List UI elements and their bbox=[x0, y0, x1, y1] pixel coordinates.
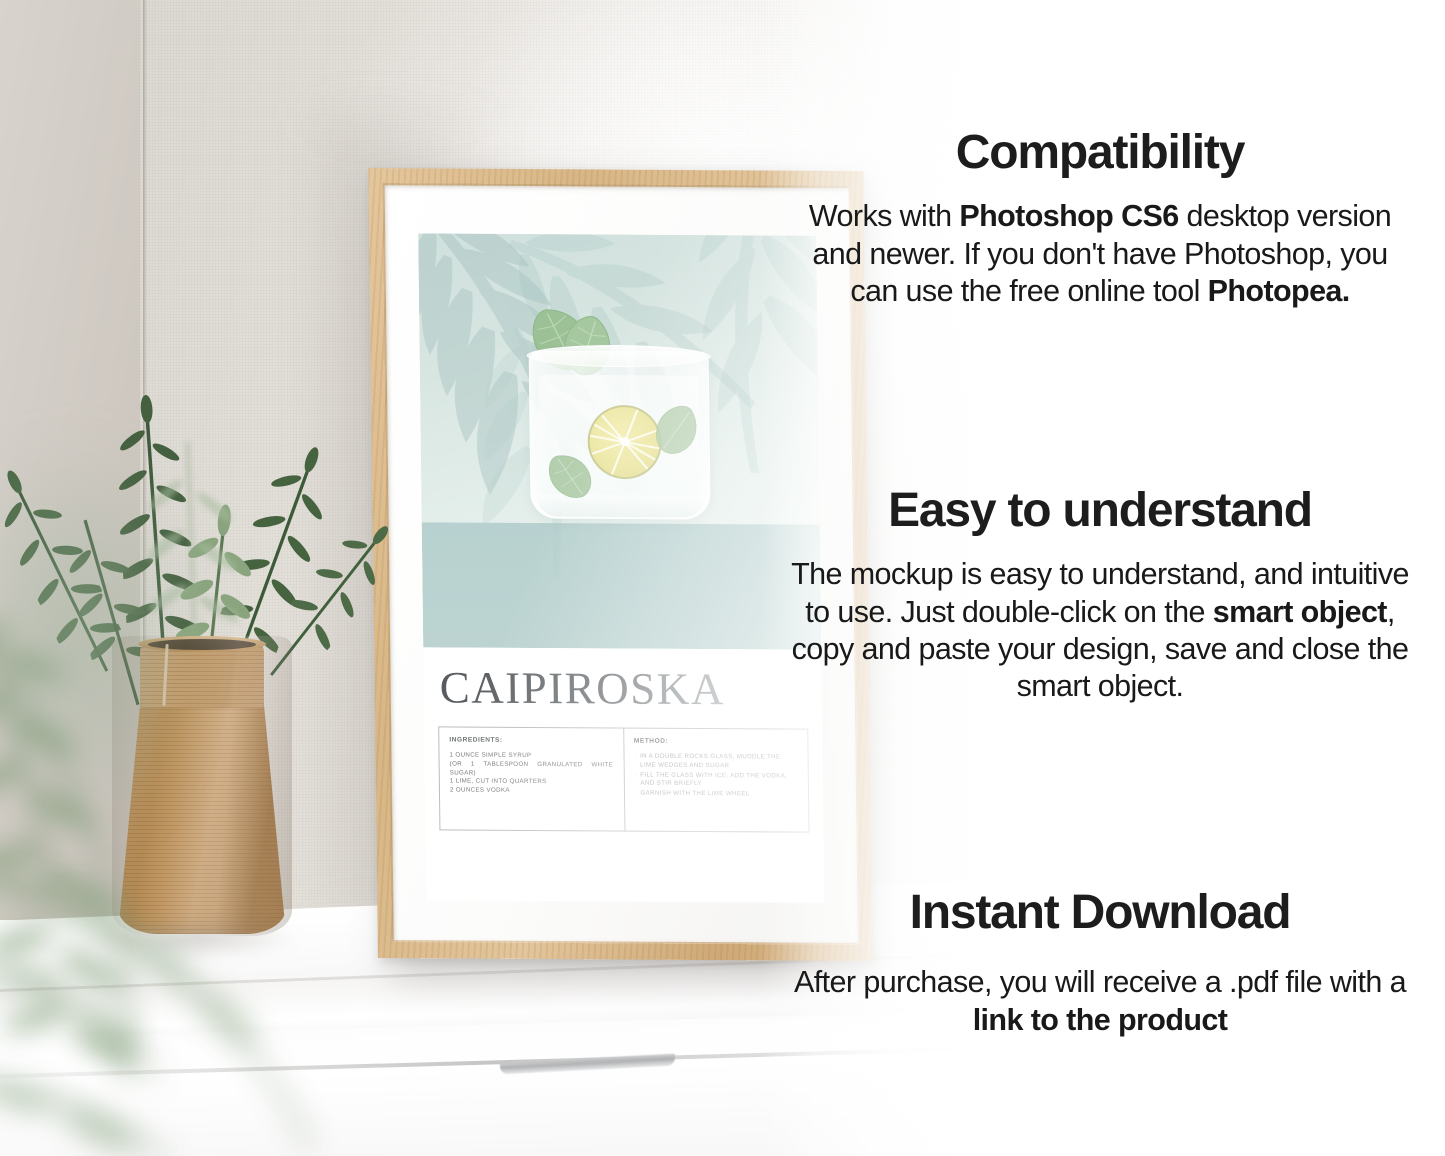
poster-text-area: CAIPIROSKA INGREDIENTS: 1 OUNCE SIMPLE S… bbox=[423, 647, 824, 903]
text-run-bold: smart object bbox=[1213, 595, 1387, 629]
method-heading: METHOD: bbox=[634, 737, 798, 745]
ingredient-line: (OR 1 TABLESPOON GRANULATED WHITE SUGAR) bbox=[450, 760, 614, 779]
feature-block-easy-to-understand: Easy to understand The mockup is easy to… bbox=[790, 486, 1410, 705]
method-column: METHOD: IN A DOUBLE ROCKS GLASS, MUDDLE … bbox=[623, 728, 809, 831]
frame-mat-board: CAIPIROSKA INGREDIENTS: 1 OUNCE SIMPLE S… bbox=[385, 185, 858, 943]
text-run-bold: link to the product bbox=[973, 1003, 1228, 1037]
vase-floor-shadow bbox=[80, 918, 300, 958]
download-body: After purchase, you will receive a .pdf … bbox=[790, 964, 1410, 1038]
method-step: IN A DOUBLE ROCKS GLASS, MUDDLE THE LIME… bbox=[634, 752, 798, 771]
text-run-bold: Photopea. bbox=[1208, 274, 1350, 308]
ingredients-heading: INGREDIENTS: bbox=[449, 736, 613, 744]
easy-heading: Easy to understand bbox=[790, 486, 1410, 536]
feature-block-instant-download: Instant Download After purchase, you wil… bbox=[790, 888, 1410, 1039]
ingredient-line: 2 OUNCES VODKA bbox=[450, 787, 614, 797]
text-run-bold: Photoshop CS6 bbox=[959, 199, 1178, 233]
cocktail-glass-illustration bbox=[520, 308, 719, 524]
ingredient-line: 1 OUNCE SIMPLE SYRUP bbox=[449, 751, 613, 761]
poster-title: CAIPIROSKA bbox=[439, 665, 808, 712]
text-run: Works with bbox=[809, 199, 959, 233]
marketing-text-panel: Compatibility Works with Photoshop CS6 d… bbox=[760, 0, 1445, 1156]
poster-artwork: CAIPIROSKA INGREDIENTS: 1 OUNCE SIMPLE S… bbox=[418, 233, 824, 902]
download-heading: Instant Download bbox=[790, 888, 1410, 938]
ingredients-column: INGREDIENTS: 1 OUNCE SIMPLE SYRUP (OR 1 … bbox=[439, 727, 624, 830]
feature-block-compatibility: Compatibility Works with Photoshop CS6 d… bbox=[790, 128, 1410, 310]
method-step: FILL THE GLASS WITH ICE, ADD THE VODKA, … bbox=[634, 771, 798, 790]
compatibility-heading: Compatibility bbox=[790, 128, 1410, 178]
listing-graphic: CAIPIROSKA INGREDIENTS: 1 OUNCE SIMPLE S… bbox=[0, 0, 1445, 1156]
poster-illustration-area bbox=[418, 233, 821, 649]
recipe-table: INGREDIENTS: 1 OUNCE SIMPLE SYRUP (OR 1 … bbox=[438, 726, 809, 832]
foreground-bokeh bbox=[0, 430, 210, 850]
text-run: After purchase, you will receive a .pdf … bbox=[794, 965, 1406, 999]
compatibility-body: Works with Photoshop CS6 desktop version… bbox=[790, 198, 1410, 310]
method-step: GARNISH WITH THE LIME WHEEL bbox=[634, 790, 798, 800]
easy-body: The mockup is easy to understand, and in… bbox=[790, 556, 1410, 705]
